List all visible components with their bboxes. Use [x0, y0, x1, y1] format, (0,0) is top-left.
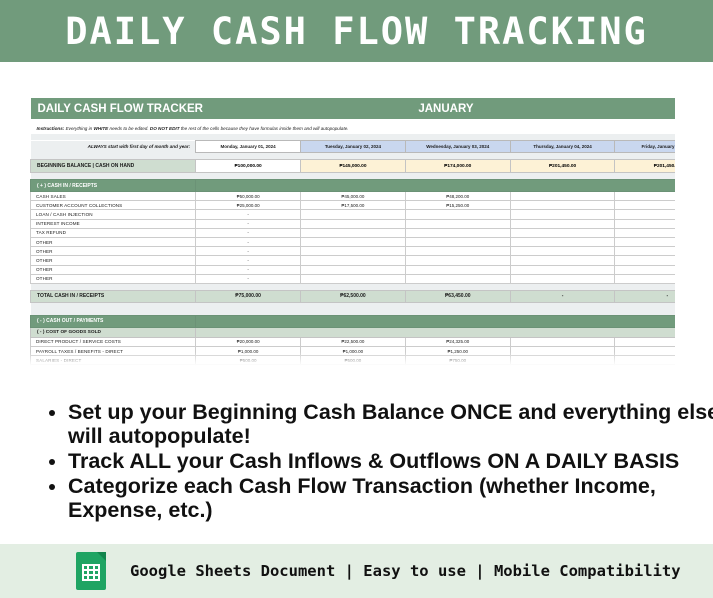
bullet-item-3: Categorize each Cash Flow Transaction (w… — [68, 474, 713, 522]
total-cash-in-label: TOTAL CASH IN / RECEIPTS — [31, 290, 196, 302]
table-row[interactable]: OTHER- — [31, 247, 676, 256]
beginning-balance-label: BEGINNING BALANCE | CASH ON HAND — [31, 160, 196, 173]
cash-in-section-label: ( + ) CASH IN / RECEIPTS — [31, 180, 196, 192]
row-value-cell[interactable] — [615, 247, 675, 256]
total-cash-in-value-5: - — [615, 290, 675, 302]
instructions-white: WHITE — [93, 126, 108, 131]
row-value-cell[interactable] — [615, 210, 675, 219]
row-value-cell[interactable]: ₱45,000.00 — [301, 192, 406, 201]
instructions-a: Everything in — [64, 126, 93, 131]
spreadsheet-preview[interactable]: DAILY CASH FLOW TRACKER JANUARY Instruct… — [30, 98, 675, 368]
row-value-cell[interactable] — [615, 365, 675, 368]
row-label: PAYROLL TAXES / BENEFITS - DIRECT — [31, 347, 196, 356]
row-value-cell[interactable]: ₱1,250.00 — [405, 347, 510, 356]
date-cell-4[interactable]: Thursday, January 04, 2024 — [510, 141, 615, 153]
sheet-gap-4 — [31, 283, 676, 290]
row-value-cell[interactable]: - — [196, 274, 301, 283]
sheet-month: JANUARY — [405, 98, 675, 119]
row-value-cell[interactable] — [301, 247, 406, 256]
instructions-lead: Instructions: — [37, 126, 65, 131]
sheet-gap-3 — [31, 173, 676, 180]
bullet-item-2: Track ALL your Cash Inflows & Outflows O… — [68, 449, 713, 473]
total-cash-in-value-2: ₱62,500.00 — [301, 290, 406, 302]
page-title: DAILY CASH FLOW TRACKING — [65, 10, 648, 53]
cash-out-section-header: ( - ) CASH OUT / PAYMENTS — [31, 315, 676, 327]
instructions-b: needs to be edited. — [108, 126, 150, 131]
row-value-cell[interactable] — [405, 247, 510, 256]
date-cell-1[interactable]: Monday, January 01, 2024 — [196, 141, 301, 153]
total-cash-in-value-4: - — [510, 290, 615, 302]
feature-bullet-list: Set up your Beginning Cash Balance ONCE … — [38, 400, 713, 523]
row-value-cell[interactable]: ₱750.00 — [405, 356, 510, 365]
row-value-cell[interactable] — [405, 219, 510, 228]
row-value-cell[interactable]: - — [196, 237, 301, 246]
table-row[interactable]: SUPPLIES — [31, 365, 676, 368]
date-cell-2[interactable]: Tuesday, January 02, 2024 — [301, 141, 406, 153]
row-value-cell[interactable] — [510, 201, 615, 210]
table-row[interactable]: INTEREST INCOME- — [31, 219, 676, 228]
cash-out-section-label: ( - ) CASH OUT / PAYMENTS — [31, 315, 196, 327]
row-value-cell[interactable] — [405, 228, 510, 237]
row-label: OTHER — [31, 247, 196, 256]
table-row[interactable]: CASH SALES₱50,000.00₱45,000.00₱48,200.00 — [31, 192, 676, 201]
beginning-balance-value-1[interactable]: ₱100,000.00 — [196, 160, 301, 173]
cash-out-rows: DIRECT PRODUCT / SERVICE COSTS₱20,000.00… — [31, 337, 676, 368]
row-value-cell[interactable] — [301, 219, 406, 228]
table-row[interactable]: CUSTOMER ACCOUNT COLLECTIONS₱25,000.00₱1… — [31, 201, 676, 210]
row-value-cell[interactable] — [510, 337, 615, 346]
row-value-cell[interactable]: ₱50,000.00 — [196, 192, 301, 201]
row-value-cell[interactable] — [615, 337, 675, 346]
row-value-cell[interactable]: ₱25,000.00 — [196, 201, 301, 210]
row-label: SUPPLIES — [31, 365, 196, 368]
row-value-cell[interactable] — [510, 265, 615, 274]
total-cash-in-value-3: ₱63,450.00 — [405, 290, 510, 302]
instructions-c: the rest of the cells because they have … — [180, 126, 349, 131]
google-sheets-icon — [76, 552, 106, 590]
row-value-cell[interactable] — [301, 365, 406, 368]
row-value-cell[interactable] — [615, 219, 675, 228]
table-row[interactable]: OTHER- — [31, 265, 676, 274]
row-value-cell[interactable]: ₱22,500.00 — [301, 337, 406, 346]
row-value-cell[interactable] — [615, 228, 675, 237]
footer-text: Google Sheets Document | Easy to use | M… — [130, 562, 681, 580]
row-value-cell[interactable]: - — [196, 210, 301, 219]
total-cash-in-value-1: ₱75,000.00 — [196, 290, 301, 302]
table-row[interactable]: PAYROLL TAXES / BENEFITS - DIRECT₱1,000.… — [31, 347, 676, 356]
row-value-cell[interactable] — [301, 274, 406, 283]
row-value-cell[interactable]: ₱15,250.00 — [405, 201, 510, 210]
date-cell-3[interactable]: Wednesday, January 03, 2024 — [405, 141, 510, 153]
row-label: DIRECT PRODUCT / SERVICE COSTS — [31, 337, 196, 346]
row-value-cell[interactable] — [615, 274, 675, 283]
row-value-cell[interactable] — [301, 265, 406, 274]
table-row[interactable]: DIRECT PRODUCT / SERVICE COSTS₱20,000.00… — [31, 337, 676, 346]
row-value-cell[interactable]: ₱48,200.00 — [405, 192, 510, 201]
row-label: TAX REFUND — [31, 228, 196, 237]
row-value-cell[interactable] — [510, 219, 615, 228]
row-value-cell[interactable] — [510, 237, 615, 246]
row-label: OTHER — [31, 265, 196, 274]
sheets-icon-grid — [82, 564, 100, 581]
row-value-cell[interactable]: - — [196, 256, 301, 265]
row-value-cell[interactable] — [510, 365, 615, 368]
row-value-cell[interactable]: ₱500.00 — [196, 356, 301, 365]
row-label: CUSTOMER ACCOUNT COLLECTIONS — [31, 201, 196, 210]
row-value-cell[interactable]: ₱20,000.00 — [196, 337, 301, 346]
table-row[interactable]: OTHER- — [31, 256, 676, 265]
cash-in-section-blank — [196, 180, 675, 192]
row-label: OTHER — [31, 274, 196, 283]
beginning-balance-row: BEGINNING BALANCE | CASH ON HAND ₱100,00… — [31, 160, 676, 173]
row-value-cell[interactable] — [510, 356, 615, 365]
row-value-cell[interactable] — [405, 256, 510, 265]
dates-header-row: ALWAYS start with first day of month and… — [31, 141, 676, 153]
beginning-balance-value-2[interactable]: ₱145,000.00 — [301, 160, 406, 173]
row-value-cell[interactable] — [615, 237, 675, 246]
total-cash-in-row: TOTAL CASH IN / RECEIPTS ₱75,000.00 ₱62,… — [31, 290, 676, 302]
row-value-cell[interactable]: - — [196, 265, 301, 274]
beginning-balance-value-3[interactable]: ₱174,000.00 — [405, 160, 510, 173]
row-value-cell[interactable]: ₱17,500.00 — [301, 201, 406, 210]
beginning-balance-value-5[interactable]: ₱201,450.00 — [615, 160, 675, 173]
sheet-gap-2 — [31, 153, 676, 160]
row-label: SALARIES - DIRECT — [31, 356, 196, 365]
row-value-cell[interactable]: - — [196, 219, 301, 228]
row-value-cell[interactable] — [510, 192, 615, 201]
row-value-cell[interactable] — [510, 347, 615, 356]
row-value-cell[interactable] — [405, 274, 510, 283]
cogs-subsection-blank — [196, 327, 675, 337]
table-row[interactable]: OTHER- — [31, 274, 676, 283]
sheet-title-row: DAILY CASH FLOW TRACKER JANUARY — [31, 98, 676, 119]
footer-bar: Google Sheets Document | Easy to use | M… — [0, 544, 713, 598]
row-label: LOAN / CASH INJECTION — [31, 210, 196, 219]
row-value-cell[interactable] — [405, 210, 510, 219]
cash-flow-table[interactable]: DAILY CASH FLOW TRACKER JANUARY Instruct… — [30, 98, 675, 368]
dates-row-label: ALWAYS start with first day of month and… — [31, 141, 196, 153]
instructions-row: Instructions: Everything in WHITE needs … — [31, 122, 676, 134]
page-header-banner: DAILY CASH FLOW TRACKING — [0, 0, 713, 62]
row-value-cell[interactable] — [615, 265, 675, 274]
row-value-cell[interactable] — [301, 228, 406, 237]
row-value-cell[interactable]: ₱1,000.00 — [301, 347, 406, 356]
row-value-cell[interactable] — [615, 356, 675, 365]
row-value-cell[interactable]: - — [196, 228, 301, 237]
table-row[interactable]: OTHER- — [31, 237, 676, 246]
row-value-cell[interactable] — [405, 237, 510, 246]
table-row[interactable]: SALARIES - DIRECT₱500.00₱500.00₱750.00 — [31, 356, 676, 365]
row-value-cell[interactable] — [510, 256, 615, 265]
row-value-cell[interactable] — [615, 347, 675, 356]
row-value-cell[interactable] — [196, 365, 301, 368]
row-label: INTEREST INCOME — [31, 219, 196, 228]
row-value-cell[interactable] — [405, 365, 510, 368]
cash-in-rows: CASH SALES₱50,000.00₱45,000.00₱48,200.00… — [31, 192, 676, 284]
date-cell-5[interactable]: Friday, January 05, 2024 — [615, 141, 675, 153]
row-value-cell[interactable] — [510, 274, 615, 283]
row-value-cell[interactable] — [615, 192, 675, 201]
row-label: OTHER — [31, 237, 196, 246]
table-row[interactable]: TAX REFUND- — [31, 228, 676, 237]
cogs-subsection-label: ( - ) COST OF GOODS SOLD — [31, 327, 196, 337]
bullet-item-1: Set up your Beginning Cash Balance ONCE … — [68, 400, 713, 448]
row-value-cell[interactable] — [301, 210, 406, 219]
row-value-cell[interactable]: ₱24,325.00 — [405, 337, 510, 346]
sheet-title: DAILY CASH FLOW TRACKER — [31, 98, 406, 119]
row-value-cell[interactable] — [615, 201, 675, 210]
cogs-subsection-header: ( - ) COST OF GOODS SOLD — [31, 327, 676, 337]
row-value-cell[interactable] — [615, 256, 675, 265]
instructions-donotedit: DO NOT EDIT — [150, 126, 180, 131]
row-label: OTHER — [31, 256, 196, 265]
row-value-cell[interactable] — [301, 256, 406, 265]
beginning-balance-value-4[interactable]: ₱201,450.00 — [510, 160, 615, 173]
row-label: CASH SALES — [31, 192, 196, 201]
row-value-cell[interactable] — [510, 210, 615, 219]
row-value-cell[interactable] — [405, 265, 510, 274]
row-value-cell[interactable] — [510, 228, 615, 237]
row-value-cell[interactable] — [510, 247, 615, 256]
row-value-cell[interactable] — [301, 237, 406, 246]
row-value-cell[interactable]: ₱1,000.00 — [196, 347, 301, 356]
instructions-text: Instructions: Everything in WHITE needs … — [31, 122, 676, 134]
row-value-cell[interactable]: - — [196, 247, 301, 256]
table-row[interactable]: LOAN / CASH INJECTION- — [31, 210, 676, 219]
cash-in-section-header: ( + ) CASH IN / RECEIPTS — [31, 180, 676, 192]
row-value-cell[interactable]: ₱500.00 — [301, 356, 406, 365]
cash-out-section-blank — [196, 315, 675, 327]
